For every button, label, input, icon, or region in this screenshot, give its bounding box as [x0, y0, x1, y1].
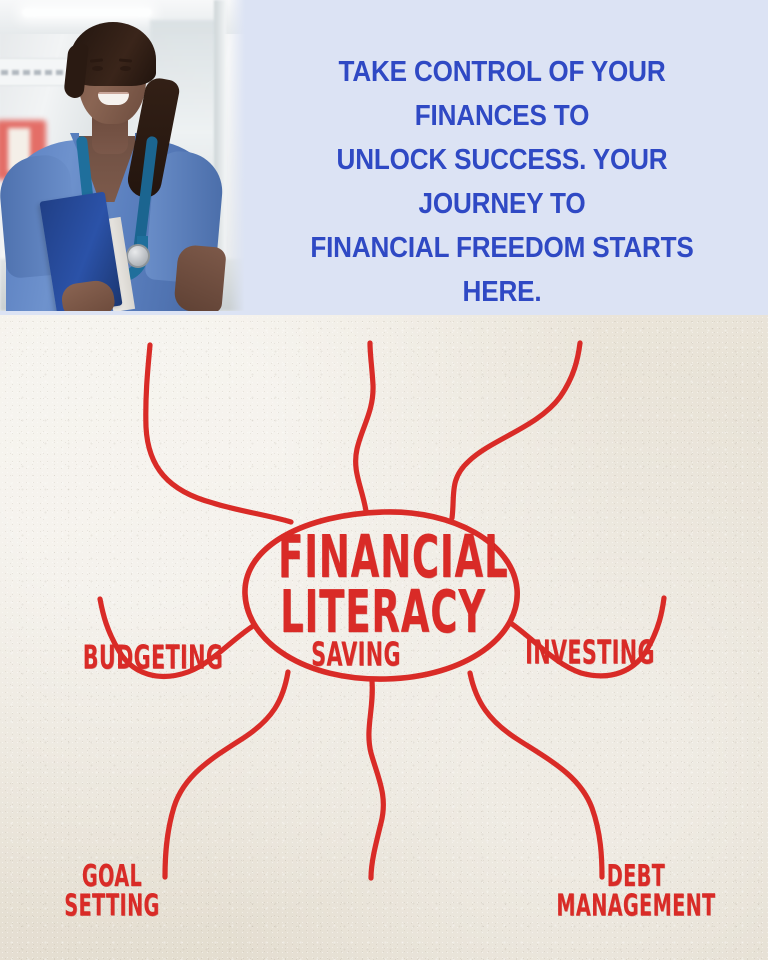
nurse-right-arm	[173, 244, 227, 311]
photo-edge-fade	[229, 0, 245, 311]
branch-investing	[452, 343, 580, 518]
poster-canvas: TAKE CONTROL OF YOUR FINANCES TO UNLOCK …	[0, 0, 768, 960]
stethoscope-chestpiece	[126, 244, 150, 268]
center-node-label[interactable]: FINANCIAL LITERACY	[278, 530, 488, 641]
branch-retirement-planning	[165, 672, 288, 877]
nurse-left-eye	[92, 66, 103, 71]
photo-wall-sign	[0, 58, 72, 86]
branch-label-budgeting[interactable]: BUDGETING	[77, 643, 230, 675]
branch-financial-products	[470, 673, 602, 877]
nurse-right-eye	[120, 66, 131, 71]
branch-label-debt-management[interactable]: DEBT MANAGEMENT	[545, 863, 727, 922]
headline-text: TAKE CONTROL OF YOUR FINANCES TO UNLOCK …	[277, 50, 727, 314]
branch-label-investing[interactable]: INVESTING	[501, 638, 678, 670]
nurse-photo	[0, 0, 245, 311]
header-band: TAKE CONTROL OF YOUR FINANCES TO UNLOCK …	[0, 0, 768, 315]
nurse-smile	[98, 92, 129, 105]
branch-budgeting	[146, 345, 291, 522]
branch-understanding-taxes	[369, 681, 383, 878]
branch-label-goal-setting[interactable]: GOAL SETTING	[50, 863, 175, 922]
branch-saving	[356, 343, 373, 511]
photo-ceiling-light	[22, 8, 152, 17]
